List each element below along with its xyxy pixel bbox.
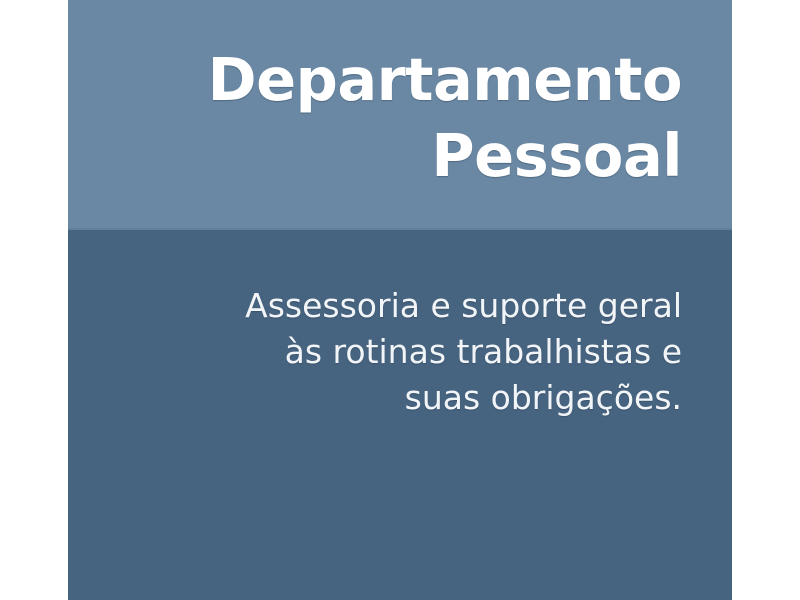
slide-root: Departamento Pessoal Assessoria e suport… xyxy=(0,0,800,600)
band-divider xyxy=(68,228,732,230)
slide-title: Departamento Pessoal xyxy=(122,42,682,194)
page-margin-left xyxy=(0,0,68,600)
slide-subtitle: Assessoria e suporte geral às rotinas tr… xyxy=(122,283,682,421)
slide-card: Departamento Pessoal Assessoria e suport… xyxy=(68,0,732,600)
page-margin-right xyxy=(732,0,800,600)
